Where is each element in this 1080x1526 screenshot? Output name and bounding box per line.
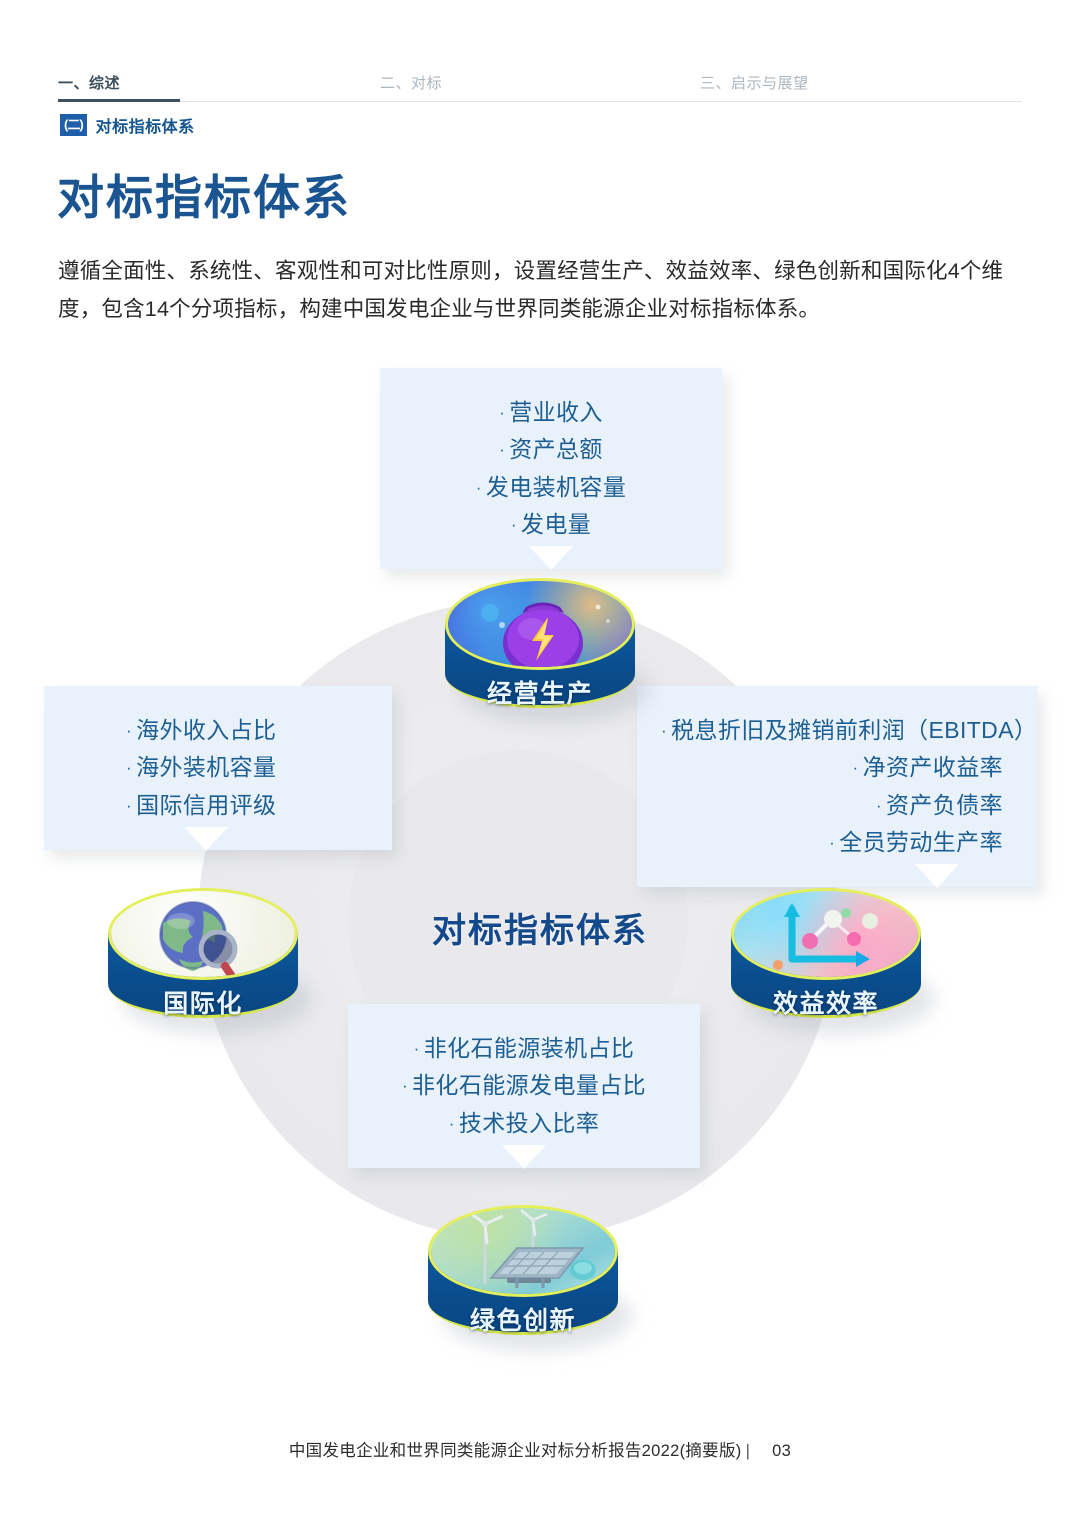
nav-active-underline: [58, 99, 180, 102]
callout-item: ·海外收入占比: [126, 712, 368, 749]
callout-item-label: 国际信用评级: [136, 792, 276, 818]
benchmark-index-diagram: 对标指标体系 ·营业收入 ·资产总额 ·发电装机容量 ·发电量 ·税息折旧及摊销…: [0, 360, 1080, 1380]
callout-item-label: 税息折旧及摊销前利润（EBITDA）: [671, 717, 1037, 743]
callout-item: ·发电量: [404, 506, 698, 543]
nav-item-overview[interactable]: 一、综述: [58, 72, 120, 93]
callout-item: ·资产负债率: [661, 787, 1003, 824]
axes-molecules-icon: [734, 891, 921, 980]
callout-item-label: 海外装机容量: [136, 754, 276, 780]
bullet-icon: ·: [449, 1114, 459, 1133]
globe-magnifier-icon: [111, 891, 298, 980]
node-label: 经营生产: [445, 674, 635, 710]
callout-item-label: 非化石能源装机占比: [424, 1035, 635, 1061]
bullet-icon: ·: [476, 478, 486, 497]
page-title: 对标指标体系: [57, 172, 351, 224]
bullet-icon: ·: [402, 1076, 412, 1095]
bullet-icon: ·: [876, 796, 886, 815]
callout-item-label: 非化石能源发电量占比: [412, 1072, 646, 1098]
callout-item: ·国际信用评级: [126, 787, 368, 824]
bullet-icon: ·: [126, 796, 136, 815]
node-label: 效益效率: [731, 984, 921, 1020]
callout-pointer-icon: [529, 546, 573, 570]
callout-item-label: 全员劳动生产率: [839, 829, 1003, 855]
callout-item: ·非化石能源装机占比: [372, 1030, 676, 1067]
callout-item-label: 资产负债率: [886, 792, 1003, 818]
intro-paragraph: 遵循全面性、系统性、客观性和可对比性原则，设置经营生产、效益效率、绿色创新和国际…: [58, 252, 1020, 329]
footer-page-number: 03: [754, 1442, 791, 1460]
bullet-icon: ·: [499, 440, 509, 459]
node-label: 绿色创新: [428, 1301, 618, 1337]
section-number-badge: (二): [60, 114, 87, 136]
callout-item: ·技术投入比率: [372, 1105, 676, 1142]
bullet-icon: ·: [853, 758, 863, 777]
node-efficiency[interactable]: 效益效率: [731, 888, 921, 1046]
callout-pointer-icon: [502, 1145, 546, 1169]
node-cylinder-top: [731, 888, 921, 980]
callout-item: ·发电装机容量: [404, 469, 698, 506]
section-eyebrow: (二) 对标指标体系: [60, 113, 195, 137]
nav-item-insights[interactable]: 三、启示与展望: [700, 72, 809, 93]
bullet-icon: ·: [511, 515, 521, 534]
node-cylinder-top: [445, 578, 635, 670]
footer-separator: |: [742, 1442, 755, 1460]
callout-item: ·海外装机容量: [126, 749, 368, 786]
callout-item-label: 资产总额: [509, 436, 603, 462]
callout-item-label: 发电装机容量: [486, 474, 626, 500]
callout-item-label: 发电量: [521, 511, 591, 537]
callout-business: ·营业收入 ·资产总额 ·发电装机容量 ·发电量: [380, 368, 722, 569]
callout-pointer-icon: [915, 864, 959, 888]
callout-pointer-icon: [184, 827, 228, 851]
callout-item-label: 营业收入: [509, 399, 603, 425]
bullet-icon: ·: [661, 721, 671, 740]
node-cylinder-top: [428, 1205, 618, 1297]
money-bag-lightning-icon: [448, 581, 635, 670]
page-footer: 中国发电企业和世界同类能源企业对标分析报告2022(摘要版)|03: [0, 1437, 1080, 1461]
section-eyebrow-label: 对标指标体系: [96, 113, 195, 137]
callout-item: ·全员劳动生产率: [661, 824, 1003, 861]
node-international[interactable]: 国际化: [108, 888, 298, 1046]
bullet-icon: ·: [126, 758, 136, 777]
bullet-icon: ·: [499, 403, 509, 422]
callout-item: ·资产总额: [404, 431, 698, 468]
callout-item: ·净资产收益率: [661, 749, 1003, 786]
callout-international: ·海外收入占比 ·海外装机容量 ·国际信用评级: [44, 686, 392, 850]
wind-solar-icon: [431, 1208, 618, 1297]
callout-item-label: 海外收入占比: [136, 717, 276, 743]
footer-report-title: 中国发电企业和世界同类能源企业对标分析报告2022(摘要版): [289, 1442, 742, 1460]
node-green[interactable]: 绿色创新: [428, 1205, 618, 1363]
node-label: 国际化: [108, 984, 298, 1020]
top-navigation: 一、综述 二、对标 三、启示与展望: [58, 72, 1022, 104]
nav-item-benchmark[interactable]: 二、对标: [380, 72, 442, 93]
callout-item: ·营业收入: [404, 394, 698, 431]
bullet-icon: ·: [829, 833, 839, 852]
callout-green: ·非化石能源装机占比 ·非化石能源发电量占比 ·技术投入比率: [348, 1004, 700, 1168]
node-business[interactable]: 经营生产: [445, 578, 635, 736]
bullet-icon: ·: [414, 1039, 424, 1058]
nav-divider: [58, 101, 1022, 102]
callout-efficiency: ·税息折旧及摊销前利润（EBITDA） ·净资产收益率 ·资产负债率 ·全员劳动…: [637, 686, 1037, 887]
callout-item: ·税息折旧及摊销前利润（EBITDA）: [661, 712, 1003, 749]
node-cylinder-top: [108, 888, 298, 980]
bullet-icon: ·: [126, 721, 136, 740]
callout-item-label: 技术投入比率: [459, 1110, 599, 1136]
callout-item: ·非化石能源发电量占比: [372, 1067, 676, 1104]
callout-item-label: 净资产收益率: [863, 754, 1003, 780]
